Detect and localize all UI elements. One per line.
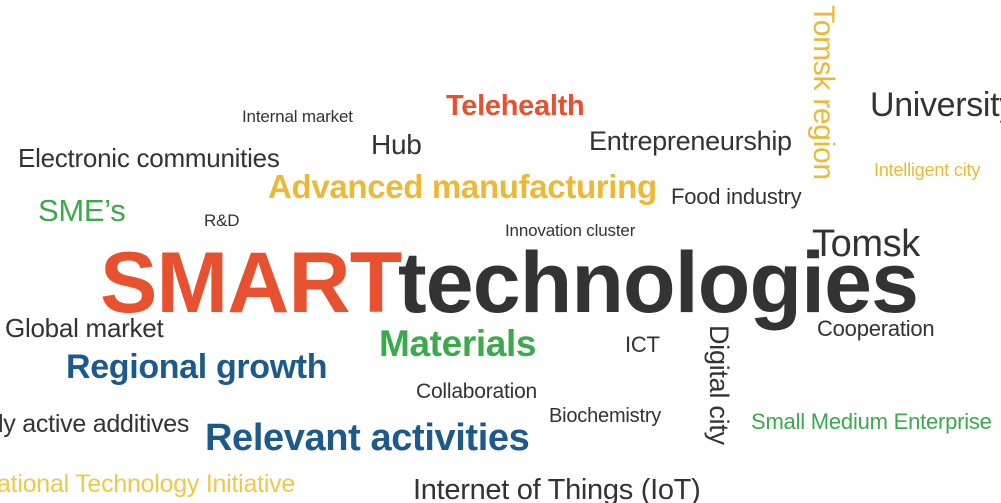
cloud-word: Entrepreneurship	[589, 128, 792, 155]
cloud-word: Materials	[379, 325, 536, 362]
cloud-word: Hub	[371, 131, 422, 159]
cloud-word: Electronic communities	[18, 145, 280, 171]
cloud-word: ational Technology Initiative	[0, 472, 295, 497]
cloud-word: Food industry	[671, 186, 801, 208]
cloud-word: Intelligent city	[874, 161, 980, 179]
cloud-word: R&D	[204, 212, 239, 229]
cloud-word: Collaboration	[416, 381, 537, 402]
cloud-word: Relevant activities	[205, 419, 529, 457]
cloud-word: Tomsk	[812, 225, 920, 263]
cloud-word: Advanced manufacturing	[268, 170, 657, 203]
cloud-word: SME’s	[38, 195, 125, 226]
cloud-word: Digital city	[705, 325, 732, 445]
cloud-word: Tomsk region	[808, 5, 838, 180]
cloud-word: ly active additives	[0, 412, 189, 437]
cloud-word: Internal market	[242, 108, 353, 125]
cloud-word: Biochemistry	[549, 406, 661, 426]
cloud-word: Innovation cluster	[505, 222, 635, 239]
cloud-word: Global market	[5, 315, 163, 341]
word-cloud-canvas: SMARTtechnologiesRelevant activitiesRegi…	[0, 0, 1001, 503]
cloud-word: Regional growth	[66, 350, 327, 384]
cloud-word: ICT	[625, 334, 660, 356]
cloud-word: University	[870, 88, 1001, 122]
cloud-word: Cooperation	[817, 318, 934, 340]
cloud-word: Small Medium Enterprise	[751, 411, 992, 433]
cloud-word: Internet of Things (IoT)	[413, 476, 700, 503]
cloud-word: Telehealth	[446, 92, 584, 121]
